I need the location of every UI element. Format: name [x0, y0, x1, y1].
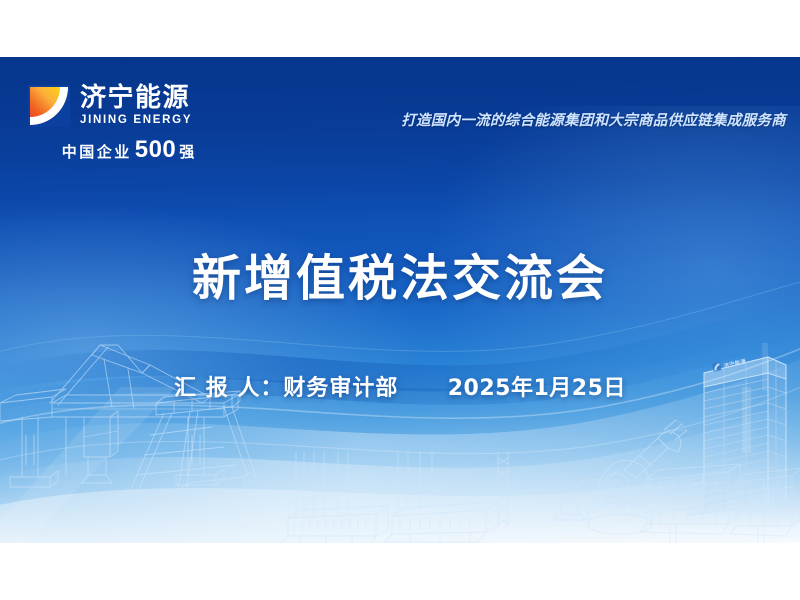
industrial-plant-line-art: [280, 452, 520, 543]
rank-prefix: 中国企业: [62, 141, 132, 162]
slide-subtitle: 汇 报 人：财务审计部 2025年1月25日: [0, 370, 800, 402]
rank-suffix: 强: [179, 141, 194, 162]
brand-rank-badge: 中国企业 500 强: [28, 136, 228, 164]
brand-logo-row: 济宁能源 JINING ENERGY: [28, 85, 228, 127]
rank-number: 500: [135, 136, 177, 164]
office-tower-line-art: 济宁能源: [690, 335, 800, 520]
brand-name-en: JINING ENERGY: [80, 115, 192, 127]
presentation-slide: 济宁能源: [0, 57, 800, 543]
slide-date: 2025年1月25日: [448, 376, 626, 401]
jining-energy-sun-mark-icon: [28, 85, 70, 127]
gantry-tripod-line-art: [120, 387, 270, 507]
brand-logo-block: 济宁能源 JINING ENERGY 中国企业 500 强: [28, 85, 228, 164]
presenter-label: 汇 报 人：财务审计部: [174, 376, 398, 401]
brand-wordmark: 济宁能源 JINING ENERGY: [80, 85, 192, 127]
brand-name-cn: 济宁能源: [80, 85, 192, 111]
slide-title: 新增值税法交流会: [0, 239, 800, 310]
company-tagline: 打造国内一流的综合能源集团和大宗商品供应链集成服务商: [401, 109, 786, 130]
